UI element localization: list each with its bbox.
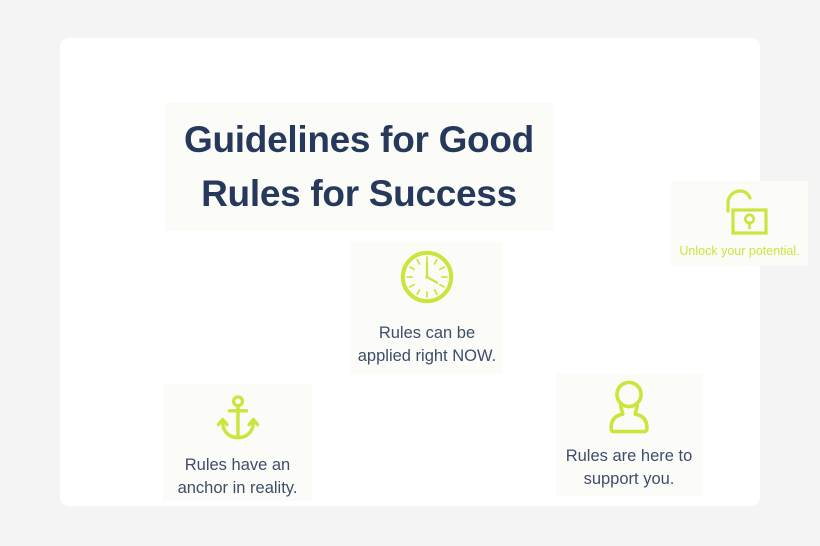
slide-card: Guidelines for Good Rules for Success Un… xyxy=(60,38,760,506)
feature-unlock-caption: Unlock your potential. xyxy=(679,243,799,259)
title-block: Guidelines for Good Rules for Success xyxy=(165,103,553,231)
feature-anchor-caption: Rules have an anchor in reality. xyxy=(178,454,298,501)
page-title: Guidelines for Good Rules for Success xyxy=(165,113,553,220)
feature-anchor: Rules have an anchor in reality. xyxy=(163,384,312,501)
anchor-icon xyxy=(215,394,261,442)
feature-clock-caption: Rules can be applied right NOW. xyxy=(358,322,496,369)
slide-stage: Guidelines for Good Rules for Success Un… xyxy=(0,0,820,546)
clock-icon xyxy=(398,248,456,306)
person-icon xyxy=(603,379,655,435)
feature-unlock: Unlock your potential. xyxy=(671,181,808,266)
feature-clock: Rules can be applied right NOW. xyxy=(351,242,503,374)
open-padlock-icon xyxy=(712,185,768,237)
feature-person-caption: Rules are here to support you. xyxy=(566,445,693,492)
feature-person: Rules are here to support you. xyxy=(556,374,702,496)
